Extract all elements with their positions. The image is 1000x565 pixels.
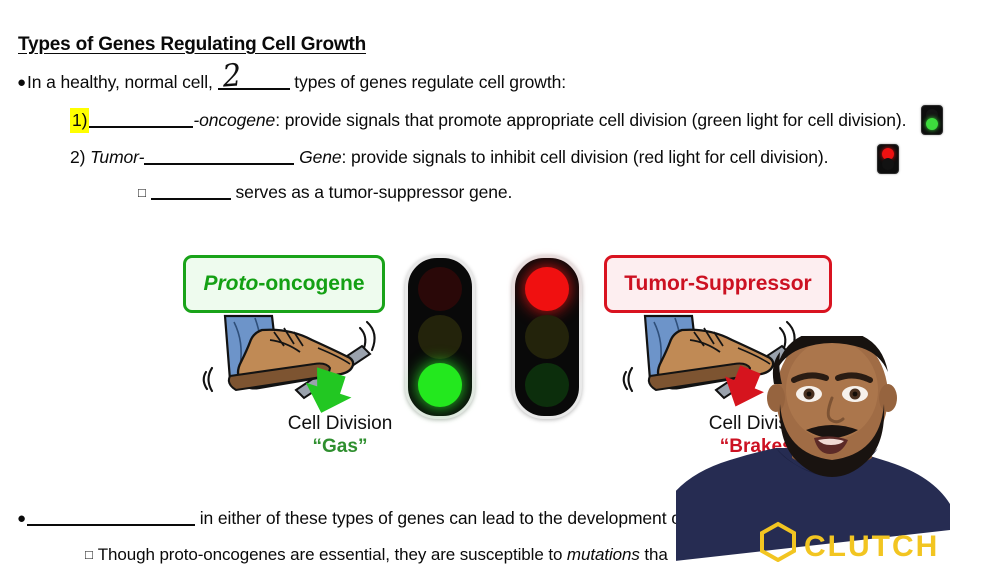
proto-italic-word: Proto bbox=[204, 272, 259, 296]
caption-left-keyword: “Gas” bbox=[255, 436, 425, 458]
list-item-2: 2) Tumor- Gene: provide signals to inhib… bbox=[70, 147, 828, 168]
traffic-light-green-icon bbox=[921, 105, 943, 135]
traffic-light-red-large bbox=[512, 255, 582, 419]
bottom-sub-post: tha bbox=[644, 545, 667, 564]
label-proto-oncogene: Proto-oncogene bbox=[183, 255, 385, 313]
list-item-1: 1)-oncogene: provide signals that promot… bbox=[70, 110, 906, 131]
intro-pre-text: In a healthy, normal cell, bbox=[27, 72, 213, 92]
square-bullet-glyph-2: □ bbox=[85, 547, 93, 562]
tumor-suppressor-word: Tumor-Suppressor bbox=[624, 272, 811, 296]
traffic-light-green-large bbox=[405, 255, 475, 419]
label-tumor-suppressor: Tumor-Suppressor bbox=[604, 255, 832, 313]
bottom-sub-italic: mutations bbox=[567, 545, 640, 564]
bottom-line-text: in either of these types of genes can le… bbox=[200, 508, 686, 528]
traffic-light-red-icon bbox=[877, 144, 899, 174]
bottom-sub-pre: Though proto-oncogenes are essential, th… bbox=[98, 545, 563, 564]
intro-line: ●In a healthy, normal cell, types of gen… bbox=[17, 72, 566, 93]
foot-on-gas-pedal-illustration bbox=[200, 310, 385, 415]
blank-suppressor-field[interactable] bbox=[144, 163, 294, 165]
shirt-brand-text: CLUTCH bbox=[804, 530, 939, 562]
item2-number: 2) bbox=[70, 147, 85, 167]
page-title: Types of Genes Regulating Cell Growth bbox=[18, 34, 366, 56]
bullet-glyph: ● bbox=[17, 74, 26, 91]
item2-prefix: Tumor- bbox=[90, 147, 144, 167]
item2-description: : provide signals to inhibit cell divisi… bbox=[342, 147, 829, 167]
caption-gas: Cell Division “Gas” bbox=[255, 413, 425, 458]
caption-left-main: Cell Division bbox=[255, 413, 425, 435]
blank-p53-field[interactable] bbox=[151, 198, 231, 200]
square-bullet-glyph: □ bbox=[138, 185, 146, 200]
item1-number-highlighted: 1) bbox=[70, 108, 89, 133]
blank-proto-field[interactable] bbox=[89, 126, 193, 128]
bullet-glyph-2: ● bbox=[17, 510, 26, 527]
bottom-bullet-line: ● in either of these types of genes can … bbox=[17, 508, 686, 529]
slide-canvas: Types of Genes Regulating Cell Growth ●I… bbox=[0, 0, 1000, 562]
proto-bold-word: -oncogene bbox=[258, 272, 364, 296]
item1-suffix: -oncogene bbox=[193, 110, 275, 130]
sub-item-1-text: serves as a tumor-suppressor gene. bbox=[236, 182, 513, 202]
item2-gene-word: Gene bbox=[299, 147, 341, 167]
blank-mutations-field[interactable] bbox=[27, 524, 195, 526]
intro-post-text: types of genes regulate cell growth: bbox=[294, 72, 566, 92]
presenter-video-overlay: CLUTCH bbox=[676, 336, 1000, 562]
sub-item-1: □ serves as a tumor-suppressor gene. bbox=[138, 182, 512, 203]
handwritten-answer: 2 bbox=[221, 57, 242, 94]
item1-description: : provide signals that promote appropria… bbox=[275, 110, 906, 130]
bottom-sub-line: □Though proto-oncogenes are essential, t… bbox=[85, 545, 668, 565]
